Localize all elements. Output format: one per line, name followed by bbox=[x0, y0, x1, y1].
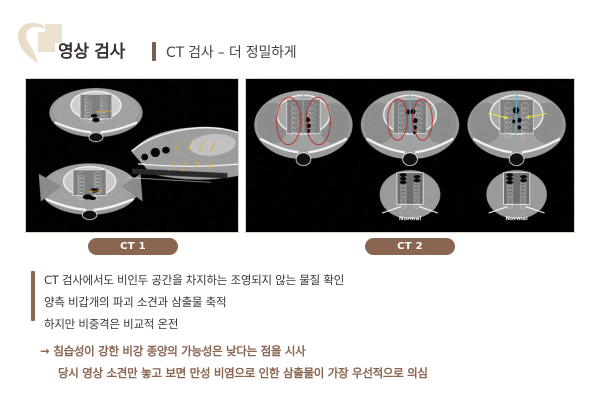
page-title: 영상 검사 bbox=[58, 44, 125, 61]
ct-2-canvas bbox=[246, 79, 574, 232]
conclusion-line-2: 당시 영상 소견만 놓고 보면 만성 비염으로 인한 삼출물이 가장 우선적으로… bbox=[40, 362, 580, 384]
conclusion-line-1: →침습성이 강한 비강 종양의 가능성은 낮다는 점을 시사 bbox=[40, 340, 580, 362]
slide-root: 영상 검사 CT 검사 – 더 정밀하게 CT 1 CT 2 CT 검사에서도 … bbox=[0, 0, 600, 400]
conclusion-block: →침습성이 강한 비강 종양의 가능성은 낮다는 점을 시사 당시 영상 소견만… bbox=[40, 340, 580, 384]
body-accent-bar bbox=[31, 271, 35, 321]
conclusion-text-1: 침습성이 강한 비강 종양의 가능성은 낮다는 점을 시사 bbox=[53, 344, 305, 358]
ct-image-panel-1 bbox=[25, 78, 239, 233]
body-text-block: CT 검사에서도 비인두 공간을 차지하는 조영되지 않는 물질 확인 양측 비… bbox=[44, 269, 564, 335]
title-separator bbox=[152, 42, 156, 61]
ct-image-panel-2 bbox=[245, 78, 575, 233]
slide-header: 영상 검사 CT 검사 – 더 정밀하게 bbox=[0, 14, 600, 70]
caption-badge-ct1: CT 1 bbox=[88, 238, 178, 255]
arrow-right-icon: → bbox=[40, 344, 49, 358]
body-line-1: CT 검사에서도 비인두 공간을 차지하는 조영되지 않는 물질 확인 bbox=[44, 269, 564, 291]
ct-1-canvas bbox=[26, 79, 238, 232]
page-subtitle: CT 검사 – 더 정밀하게 bbox=[166, 46, 297, 60]
body-line-2: 양측 비갑개의 파괴 소견과 삼출물 축적 bbox=[44, 291, 564, 313]
caption-badge-ct2: CT 2 bbox=[365, 238, 455, 255]
body-line-3: 하지만 비중격은 비교적 온전 bbox=[44, 313, 564, 335]
